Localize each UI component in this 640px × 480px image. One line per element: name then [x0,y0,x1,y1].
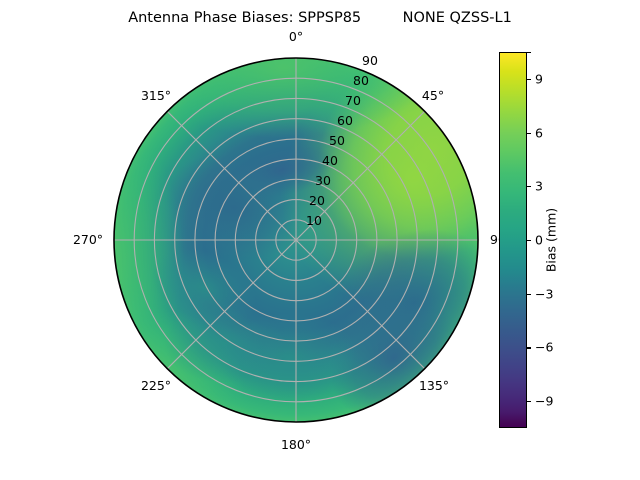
theta-tick-0: 0° [289,31,303,44]
theta-tick-225: 225° [141,380,171,393]
theta-tick-270: 270° [73,234,103,247]
theta-tick-45: 45° [422,90,444,103]
polar-plot: 10 20 30 40 50 60 70 80 90 0° 45° 90 135… [114,58,478,422]
tickmark-9 [527,79,531,80]
r-tick-20: 20 [309,195,325,208]
colorbar-ticklabel-neg6: −6 [535,340,553,355]
tickmark-6 [527,133,531,134]
r-tick-80: 80 [353,75,369,88]
tickmark-neg9 [527,401,531,402]
theta-tick-135: 135° [419,380,449,393]
r-tick-40: 40 [322,155,338,168]
colorbar-ticklabel-neg3: −3 [535,286,553,301]
tickmark-neg6 [527,347,531,348]
r-tick-60: 60 [337,115,353,128]
figure-canvas: Antenna Phase Biases: SPPSP85 NONE QZSS-… [0,0,640,480]
r-tick-70: 70 [345,95,361,108]
colorbar-ticklabel-6: 6 [535,125,543,140]
colorbar-ticklabel-0: 0 [535,233,543,248]
colorbar-axis-label: Bias (mm) [544,208,559,272]
tickmark-0 [527,240,531,241]
theta-tick-315: 315° [141,90,171,103]
colorbar: 9 6 3 0 −3 −6 −9 [499,52,527,428]
r-tick-10: 10 [306,215,322,228]
tickmark-neg3 [527,294,531,295]
colorbar-ticklabel-3: 3 [535,179,543,194]
colorbar-ticklabel-neg9: −9 [535,394,553,409]
polar-grid-spokes [114,58,478,422]
theta-tick-180: 180° [281,439,311,452]
colorbar-tickmark-hidden [527,52,531,53]
r-tick-90: 90 [362,55,378,68]
page-title: Antenna Phase Biases: SPPSP85 NONE QZSS-… [0,10,640,26]
tickmark-3 [527,186,531,187]
polar-contour-svg [114,58,478,422]
r-tick-50: 50 [329,135,345,148]
r-tick-30: 30 [315,175,331,188]
colorbar-gradient [499,52,527,428]
colorbar-ticklabel-9: 9 [535,71,543,86]
